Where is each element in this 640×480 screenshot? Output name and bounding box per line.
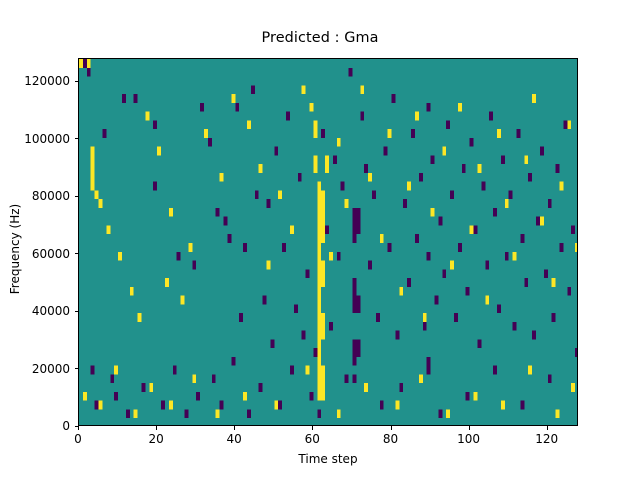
ytick-label-100000: 100000	[0, 132, 70, 146]
x-axis-label: Time step	[78, 452, 578, 466]
xtick-label-20: 20	[148, 432, 163, 446]
y-axis-label: Frequency (Hz)	[8, 189, 22, 309]
ytick-mark-20000	[75, 368, 79, 369]
xtick-label-80: 80	[383, 432, 398, 446]
ytick-mark-80000	[75, 196, 79, 197]
xtick-mark-80	[391, 426, 392, 430]
ytick-label-0: 0	[0, 419, 70, 433]
ytick-label-20000: 20000	[0, 362, 70, 376]
xtick-label-40: 40	[227, 432, 242, 446]
xtick-mark-40	[234, 426, 235, 430]
ytick-mark-40000	[75, 311, 79, 312]
xtick-mark-0	[78, 426, 79, 430]
heatmap-plot-area[interactable]	[78, 58, 578, 426]
ytick-mark-100000	[75, 138, 79, 139]
ytick-label-120000: 120000	[0, 74, 70, 88]
xtick-mark-60	[312, 426, 313, 430]
xtick-mark-20	[156, 426, 157, 430]
xtick-mark-120	[547, 426, 548, 430]
xtick-label-60: 60	[305, 432, 320, 446]
xtick-label-120: 120	[535, 432, 558, 446]
ytick-mark-120000	[75, 81, 79, 82]
heatmap-image	[79, 59, 578, 426]
xtick-label-100: 100	[457, 432, 480, 446]
xtick-mark-100	[469, 426, 470, 430]
page-title: Predicted : Gma	[0, 30, 640, 46]
ytick-mark-60000	[75, 253, 79, 254]
figure-canvas: Predicted : Gma 0 20000 40000 60000 8000…	[0, 0, 640, 480]
xtick-label-0: 0	[74, 432, 82, 446]
